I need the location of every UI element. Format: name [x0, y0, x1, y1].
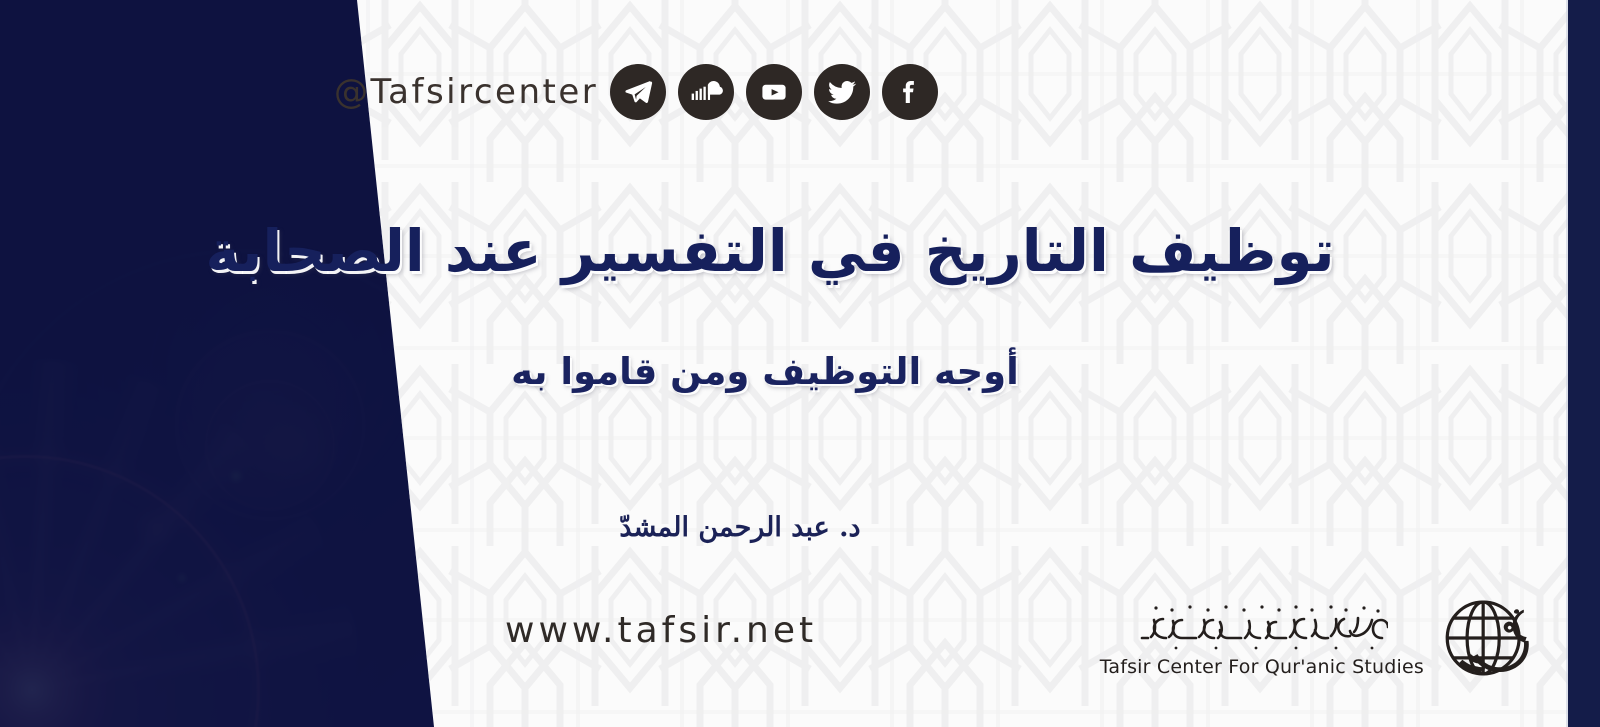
- logo-wordmark: Tafsir Center For Qur'anic Studies: [1100, 598, 1424, 678]
- page-title: توظيف التاريخ في التفسير عند الصحابة: [0, 218, 1540, 285]
- telegram-icon[interactable]: [610, 64, 666, 120]
- logo-arabic-calligraphy: [1136, 598, 1388, 654]
- facebook-icon[interactable]: [882, 64, 938, 120]
- soundcloud-icon[interactable]: [678, 64, 734, 120]
- banner-content: @Tafsircenter توظيف التاريخ في التفسير ع…: [0, 0, 1600, 727]
- logo-english-label: Tafsir Center For Qur'anic Studies: [1100, 656, 1424, 678]
- globe-tafsir-logo-icon: [1434, 586, 1538, 690]
- tafsir-center-logo[interactable]: Tafsir Center For Qur'anic Studies: [1100, 586, 1538, 690]
- author-name: د. عبد الرحمن المشدّ: [0, 512, 1480, 543]
- tafsir-center-banner: @Tafsircenter توظيف التاريخ في التفسير ع…: [0, 0, 1600, 727]
- twitter-icon[interactable]: [814, 64, 870, 120]
- social-links-row: @Tafsircenter: [316, 64, 938, 120]
- youtube-icon[interactable]: [746, 64, 802, 120]
- social-handle-label: @Tafsircenter: [334, 72, 598, 112]
- website-url[interactable]: www.tafsir.net: [505, 610, 817, 651]
- page-subtitle: أوجه التوظيف ومن قاموا به: [0, 350, 1530, 393]
